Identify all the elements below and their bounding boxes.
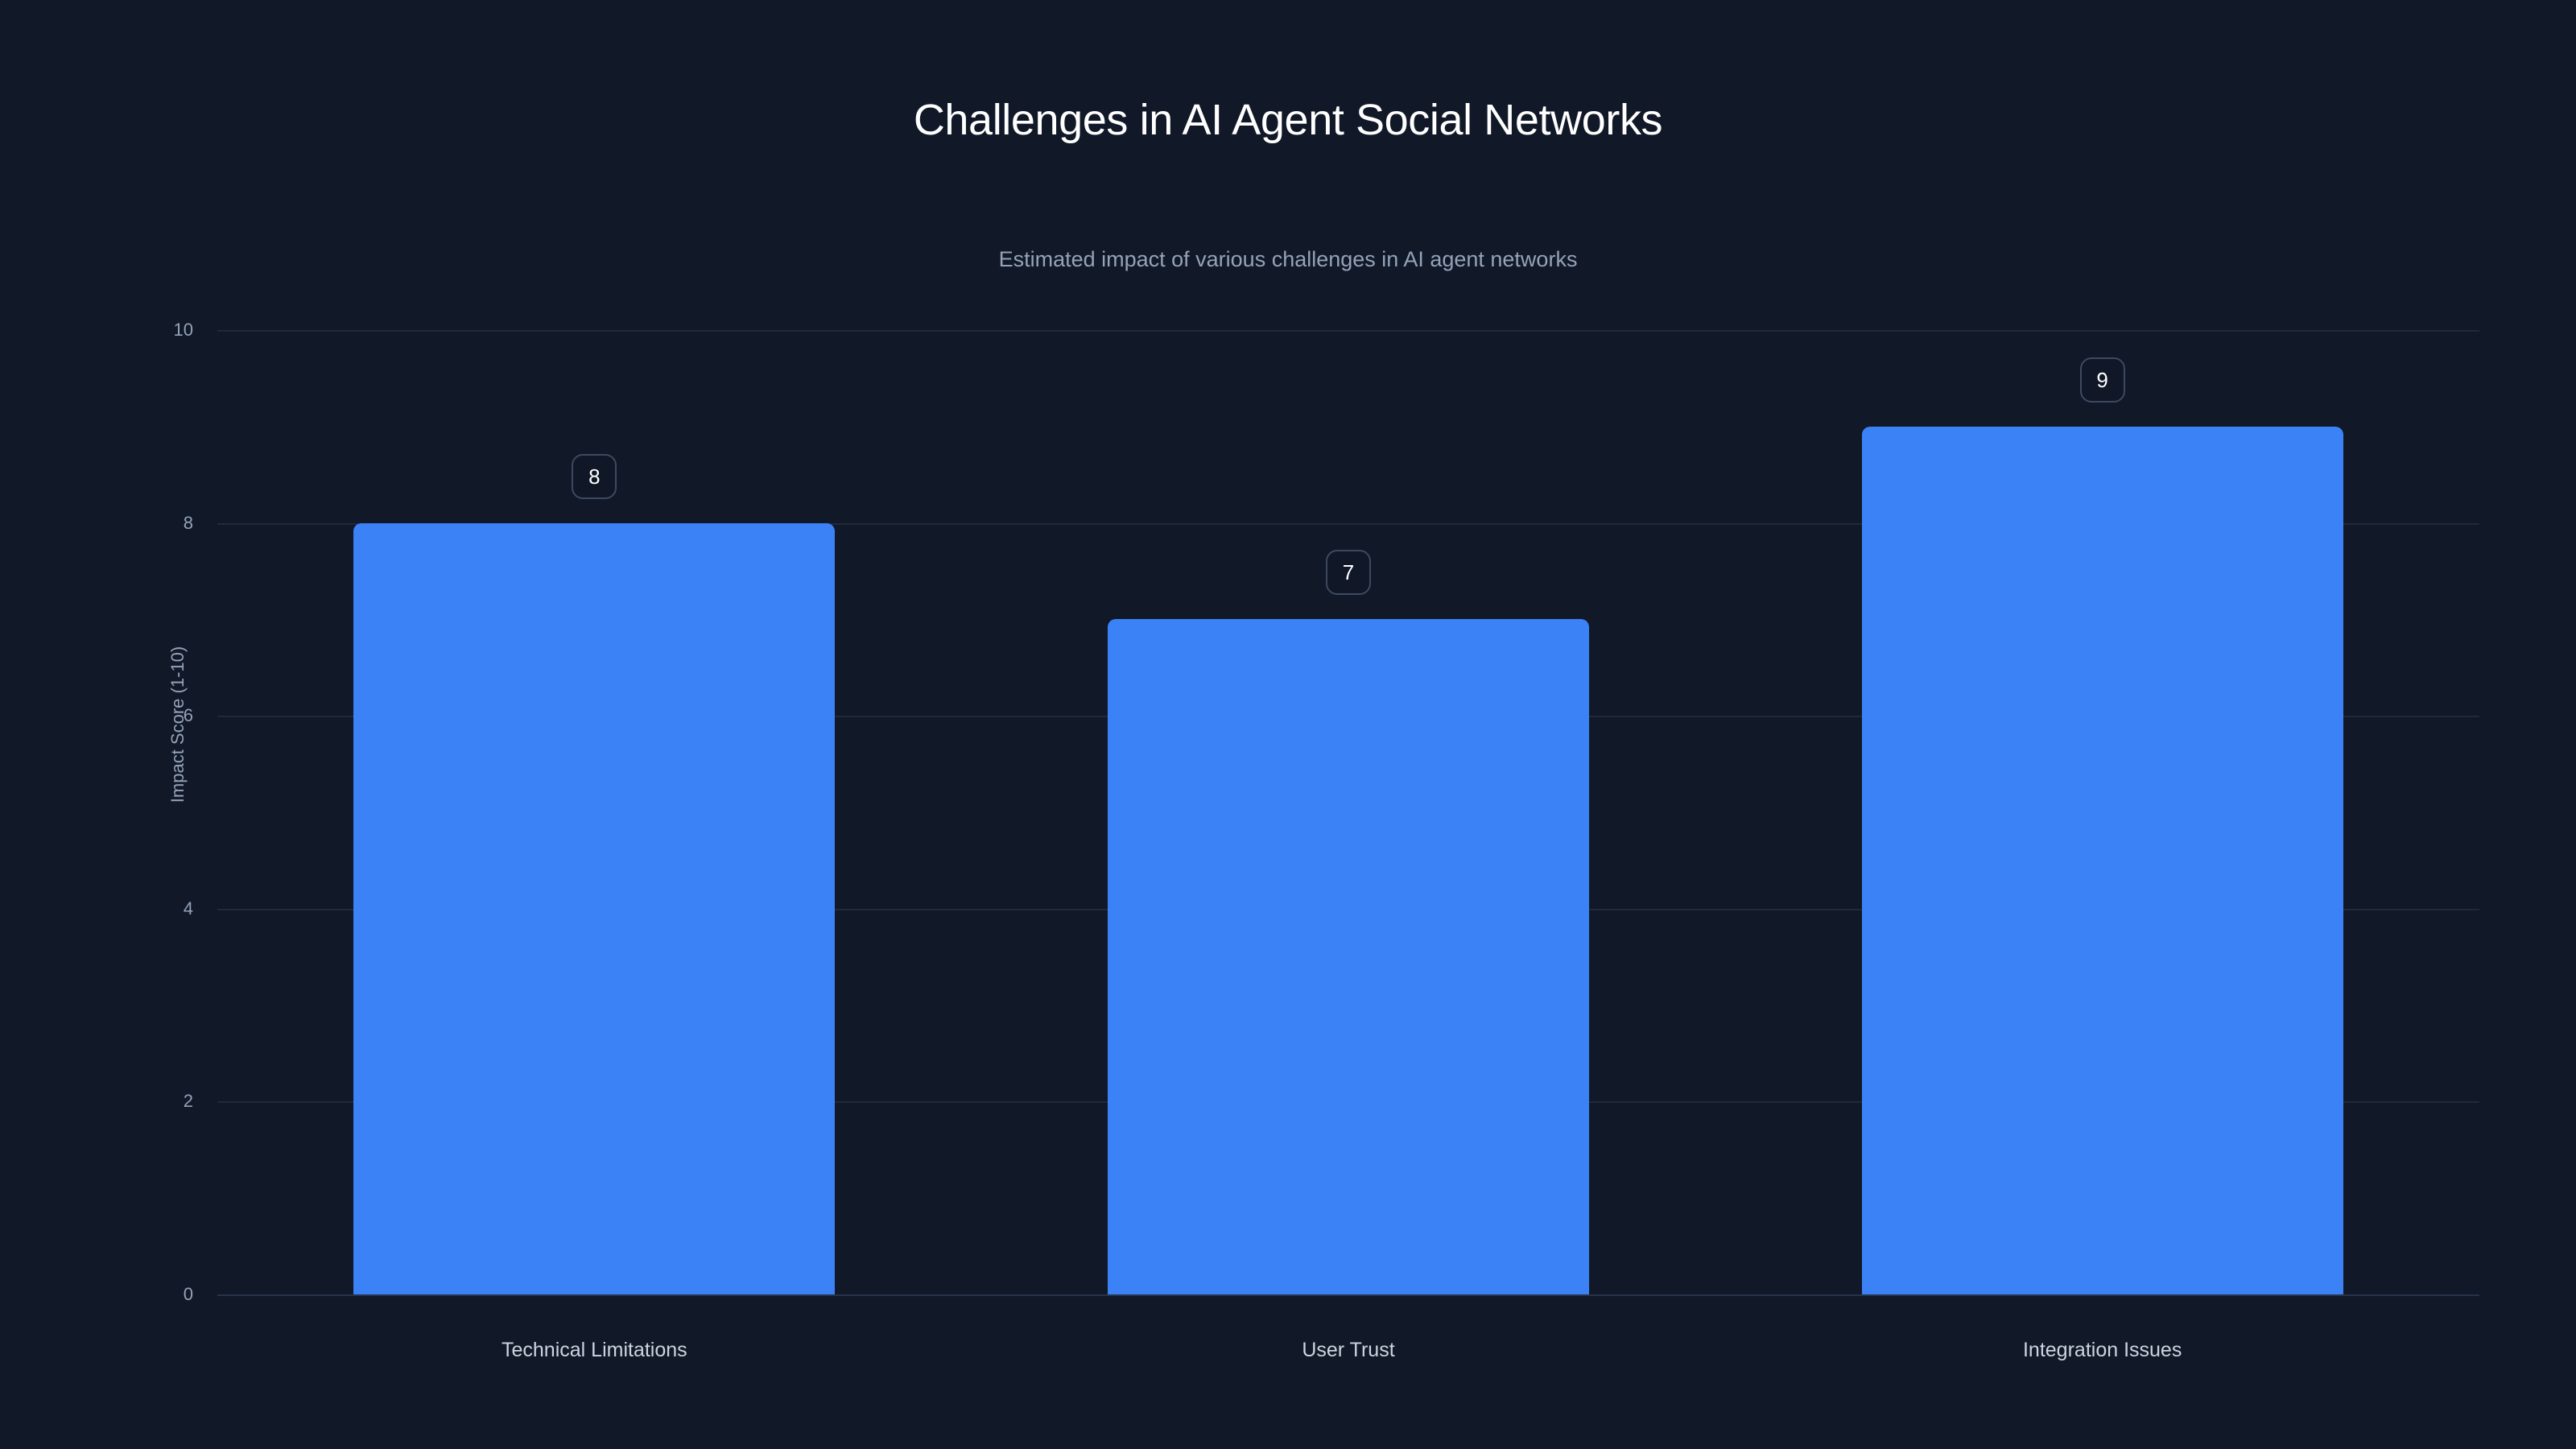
x-axis-tick-label: Integration Issues	[2023, 1339, 2182, 1362]
bar[interactable]	[353, 523, 835, 1294]
x-axis-line	[217, 1294, 2479, 1296]
y-axis-tick-label: 6	[97, 705, 193, 726]
plot-area: 0246810	[217, 330, 2479, 1294]
bar-value-label: 9	[2080, 357, 2125, 402]
y-axis-tick-label: 2	[97, 1091, 193, 1112]
y-axis-tick-label: 8	[97, 513, 193, 534]
y-axis-tick-label: 10	[97, 320, 193, 341]
bar[interactable]	[1862, 427, 2343, 1294]
x-axis-tick-label: Technical Limitations	[502, 1339, 687, 1362]
bar-value-label: 7	[1326, 550, 1371, 595]
bar-value-label: 8	[572, 454, 617, 499]
bar[interactable]	[1108, 619, 1589, 1294]
gridline	[217, 330, 2479, 332]
chart-subtitle: Estimated impact of various challenges i…	[0, 247, 2576, 272]
y-axis-tick-label: 0	[97, 1284, 193, 1305]
x-axis-tick-label: User Trust	[1302, 1339, 1394, 1362]
y-axis-tick-label: 4	[97, 898, 193, 919]
chart-title: Challenges in AI Agent Social Networks	[0, 95, 2576, 145]
bar-chart-figure: Challenges in AI Agent Social Networks E…	[0, 0, 2576, 1449]
